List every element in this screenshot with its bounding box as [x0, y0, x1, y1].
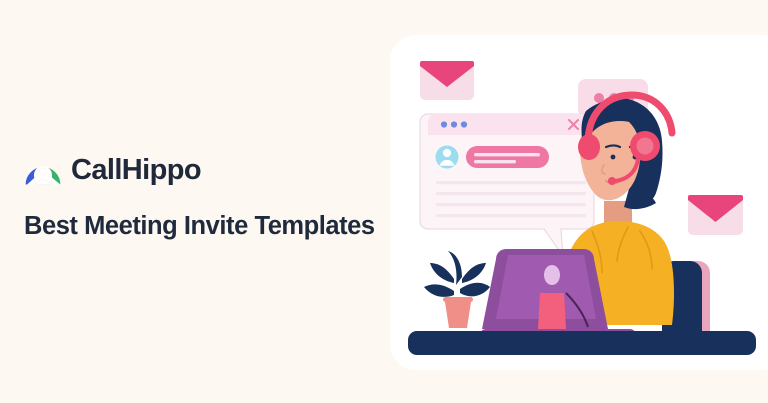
- potted-plant: [424, 251, 490, 328]
- customer-support-agent-illustration: [390, 35, 768, 370]
- brand-name: CallHippo: [71, 156, 201, 185]
- envelope-top-left-icon: [420, 61, 474, 100]
- desk: [408, 331, 756, 355]
- callhippo-ring-logo-icon: [24, 151, 62, 189]
- illustration-card: [390, 35, 768, 370]
- text-block: CallHippo Best Meeting Invite Templates: [24, 150, 384, 241]
- brand-logo[interactable]: CallHippo: [24, 150, 384, 190]
- page-title: Best Meeting Invite Templates: [24, 212, 384, 241]
- message-window-bubble: [420, 114, 594, 256]
- promo-banner: CallHippo Best Meeting Invite Templates: [0, 0, 768, 403]
- envelope-right-icon: [688, 195, 743, 235]
